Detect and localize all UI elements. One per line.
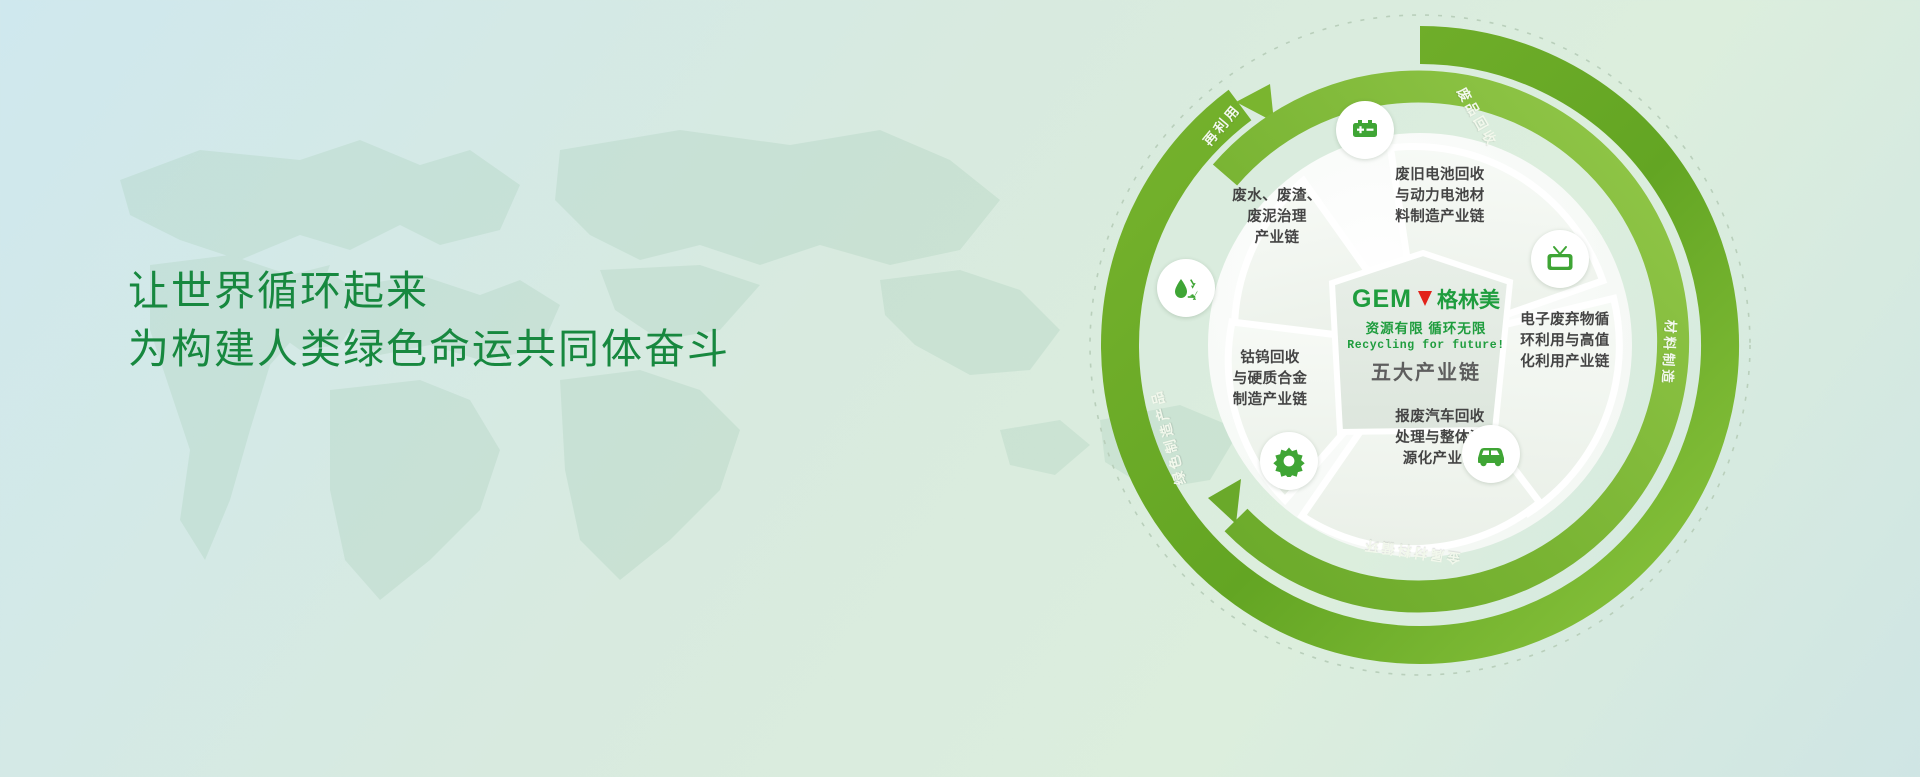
battery-icon (1350, 115, 1380, 145)
gear-icon (1273, 445, 1305, 477)
segment-label-battery: 废旧电池回收 与动力电池材 料制造产业链 (1360, 165, 1520, 228)
segment-label-e-waste: 电子废弃物循 环利用与高值 化利用产业链 (1485, 310, 1645, 373)
car-icon-bubble[interactable] (1462, 425, 1520, 483)
segment-label-cobalt: 钴钨回收 与硬质合金 制造产业链 (1195, 348, 1345, 411)
logo-mark-latin: GEM (1352, 287, 1412, 312)
gear-icon-bubble[interactable] (1260, 432, 1318, 490)
recycle-water-drop-icon (1170, 272, 1202, 304)
recycle-water-drop-icon-bubble[interactable] (1157, 259, 1215, 317)
five-industry-chain-diagram: GEM 格林美 资源有限 循环无限 Recycling for future! … (1040, 0, 1800, 777)
banner-headline: 让世界循环起来 为构建人类绿色命运共同体奋斗 (128, 262, 888, 378)
segment-label-waste-water: 废水、废渣、 废泥治理 产业链 (1202, 186, 1352, 249)
headline-line-1: 让世界循环起来 (128, 262, 888, 320)
logo-triangle-icon (1418, 291, 1432, 306)
car-icon (1475, 438, 1507, 470)
battery-icon-bubble[interactable] (1336, 101, 1394, 159)
headline-line-2: 为构建人类绿色命运共同体奋斗 (128, 320, 888, 378)
ring-label-material: 材料制造 (1659, 319, 1682, 386)
television-icon-bubble[interactable] (1531, 230, 1589, 288)
television-icon (1545, 244, 1575, 274)
